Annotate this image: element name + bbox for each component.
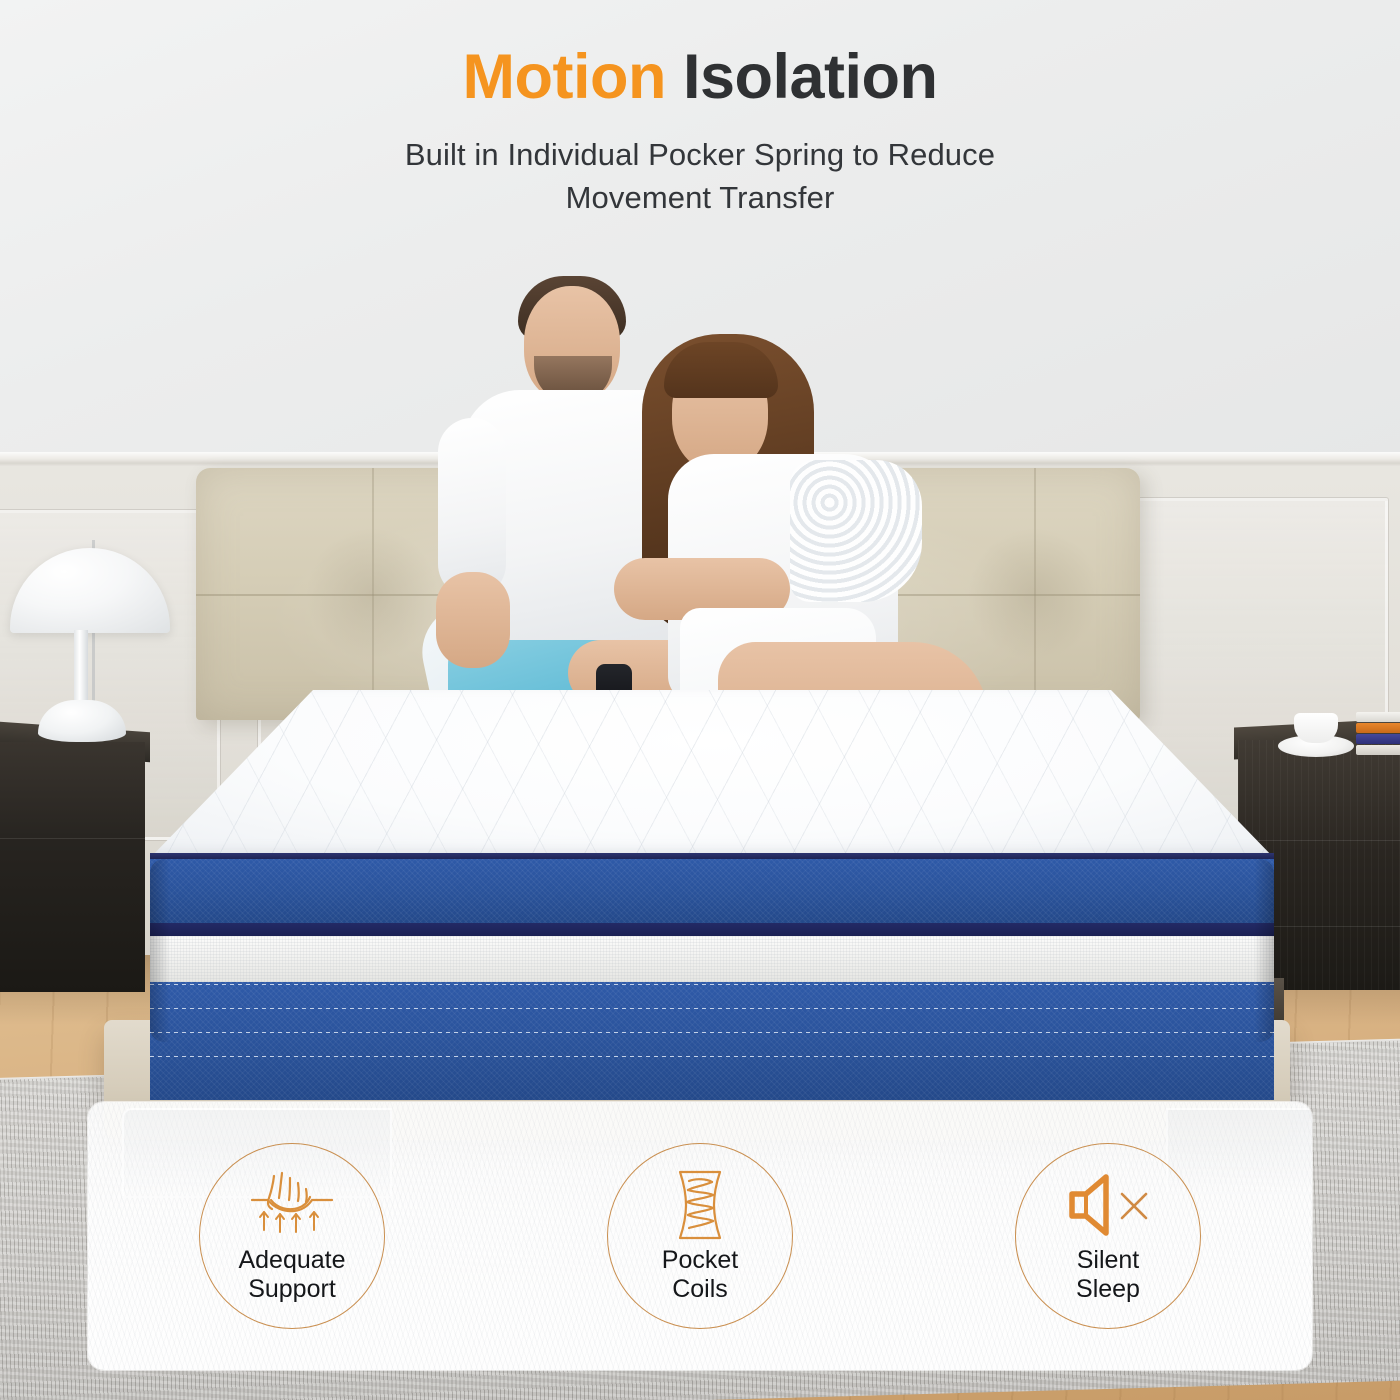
product-marketing-image: Motion Isolation Built in Individual Poc…	[0, 0, 1400, 1400]
book	[1356, 712, 1400, 722]
feature-badge-silent-sleep[interactable]: Silent Sleep	[1015, 1143, 1201, 1329]
mattress-quilted-top	[150, 690, 1274, 858]
mattress-stitch-line	[150, 984, 1274, 985]
mattress-corner-right	[1254, 859, 1274, 1042]
book-stack	[1356, 712, 1400, 752]
subtitle-line-2: Movement Transfer	[0, 177, 1400, 220]
page-subtitle: Built in Individual Pocker Spring to Red…	[0, 134, 1400, 220]
drawer-line	[0, 838, 145, 839]
book	[1356, 745, 1400, 755]
badge-label-line-1: Adequate	[238, 1246, 345, 1275]
badge-label-line-1: Pocket	[662, 1246, 738, 1275]
table-lamp-neck	[74, 630, 88, 708]
man-arm	[436, 572, 510, 668]
mattress-corner-left	[150, 859, 170, 1042]
feature-panel: Adequate Support	[88, 1102, 1312, 1370]
mattress-white-mesh-band	[150, 936, 1274, 982]
feature-badge-label: Pocket Coils	[662, 1246, 738, 1304]
coffee-cup	[1294, 713, 1338, 743]
woman-hair-front	[664, 342, 778, 398]
mattress-upper-blue-band	[150, 859, 1274, 923]
header: Motion Isolation Built in Individual Poc…	[0, 0, 1400, 220]
mattress-lower-blue-band	[150, 982, 1274, 1100]
feature-badge-label: Adequate Support	[238, 1246, 345, 1304]
book	[1356, 734, 1400, 744]
feature-badge-list: Adequate Support	[88, 1102, 1312, 1370]
woman-lace-sleeve	[790, 460, 922, 602]
title-accent-word: Motion	[463, 42, 666, 112]
badge-label-line-2: Sleep	[1076, 1275, 1140, 1304]
badge-label-line-1: Silent	[1076, 1246, 1140, 1275]
mattress-mid-piping	[150, 923, 1274, 936]
feature-badge-pocket-coils[interactable]: Pocket Coils	[607, 1143, 793, 1329]
badge-label-line-2: Support	[238, 1275, 345, 1304]
badge-label-line-2: Coils	[662, 1275, 738, 1304]
mattress	[150, 690, 1274, 1042]
subtitle-line-1: Built in Individual Pocker Spring to Red…	[0, 134, 1400, 177]
mattress-stitch-line	[150, 1032, 1274, 1033]
page-title: Motion Isolation	[0, 44, 1400, 110]
feature-badge-label: Silent Sleep	[1076, 1246, 1140, 1304]
title-rest-word: Isolation	[666, 42, 938, 112]
feature-badge-adequate-support[interactable]: Adequate Support	[199, 1143, 385, 1329]
pocket-coil-spring-icon	[667, 1168, 733, 1242]
left-nightstand	[0, 742, 145, 992]
mattress-stitch-line	[150, 1056, 1274, 1057]
mattress-stitch-line	[150, 1008, 1274, 1009]
man-sleeve	[438, 418, 506, 598]
book	[1356, 723, 1400, 733]
hand-press-support-icon	[244, 1168, 340, 1242]
muted-speaker-icon	[1062, 1168, 1154, 1242]
